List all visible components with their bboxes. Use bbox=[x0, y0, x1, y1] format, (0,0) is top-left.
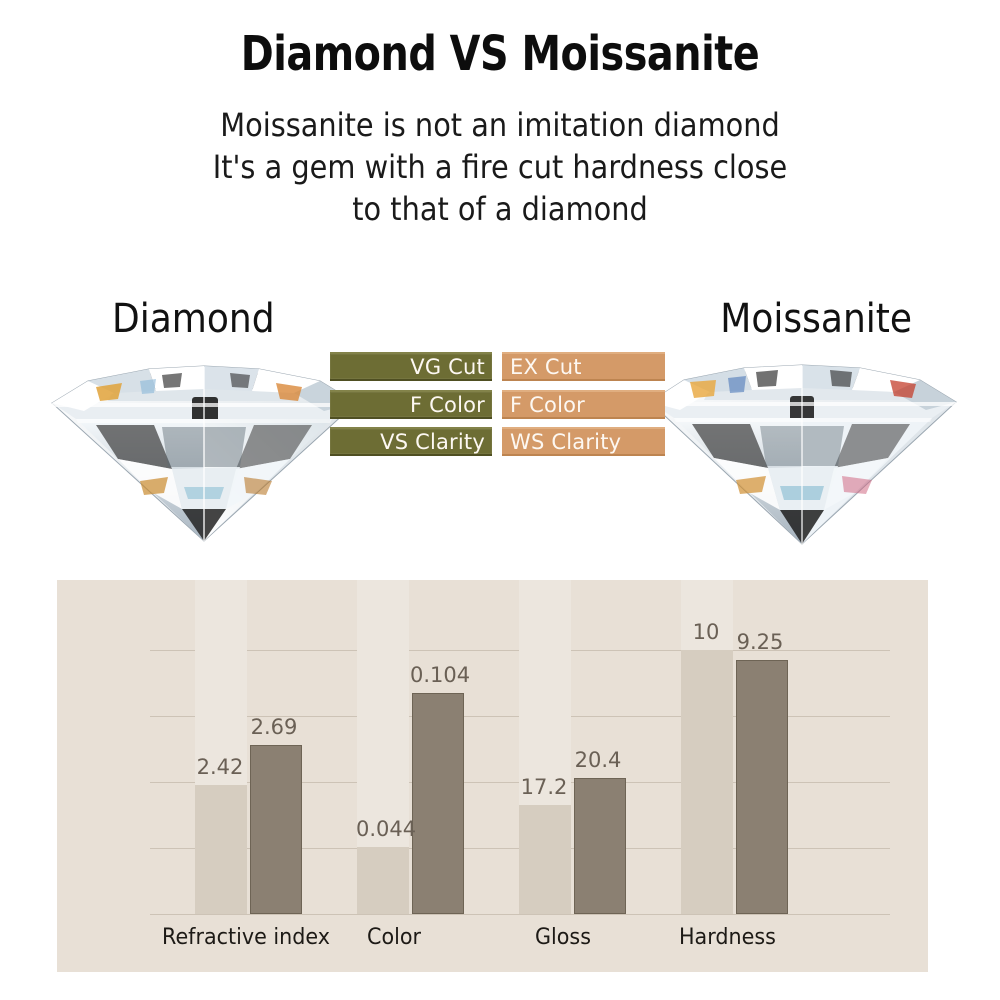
page-title: Diamond VS Moissanite bbox=[40, 26, 960, 82]
value-label-moissanite-1: 0.104 bbox=[410, 663, 462, 687]
moissanite-spec-cut: EX Cut bbox=[502, 352, 665, 381]
bar-moissanite-2 bbox=[574, 778, 626, 914]
comparison-bar-chart: 2.422.69Refractive index0.0440.104Color1… bbox=[57, 580, 928, 972]
infographic-root: Diamond VS Moissanite Moissanite is not … bbox=[0, 0, 1000, 1000]
value-label-diamond-0: 2.42 bbox=[194, 755, 246, 779]
value-label-diamond-2: 17.2 bbox=[518, 775, 570, 799]
subtitle-line-1: Moissanite is not an imitation diamond bbox=[50, 104, 950, 146]
gridline bbox=[150, 914, 890, 915]
subtitle-block: Moissanite is not an imitation diamond I… bbox=[50, 104, 950, 231]
value-label-moissanite-0: 2.69 bbox=[248, 715, 300, 739]
moissanite-heading: Moissanite bbox=[720, 296, 912, 342]
subtitle-line-3: to that of a diamond bbox=[50, 188, 950, 230]
diamond-heading: Diamond bbox=[112, 296, 275, 342]
value-label-diamond-1: 0.044 bbox=[356, 817, 408, 841]
diamond-image bbox=[44, 341, 364, 546]
value-label-diamond-3: 10 bbox=[680, 620, 732, 644]
bar-moissanite-3 bbox=[736, 660, 788, 914]
category-label-2: Gloss bbox=[535, 925, 591, 950]
chart-plot-area: 2.422.69Refractive index0.0440.104Color1… bbox=[57, 580, 928, 972]
moissanite-spec-color: F Color bbox=[502, 390, 665, 419]
category-label-0: Refractive index bbox=[162, 925, 330, 950]
bar-moissanite-1 bbox=[412, 693, 464, 914]
bar-diamond-0 bbox=[195, 785, 247, 914]
moissanite-spec-clarity: WS Clarity bbox=[502, 427, 665, 456]
category-label-3: Hardness bbox=[679, 925, 776, 950]
subtitle-line-2: It's a gem with a fire cut hardness clos… bbox=[50, 146, 950, 188]
bar-moissanite-0 bbox=[250, 745, 302, 914]
bar-diamond-2 bbox=[519, 805, 571, 914]
bar-diamond-1 bbox=[357, 847, 409, 914]
value-label-moissanite-2: 20.4 bbox=[572, 748, 624, 772]
category-label-1: Color bbox=[367, 925, 421, 950]
bar-diamond-3 bbox=[681, 650, 733, 914]
value-label-moissanite-3: 9.25 bbox=[734, 630, 786, 654]
moissanite-image bbox=[644, 356, 962, 548]
